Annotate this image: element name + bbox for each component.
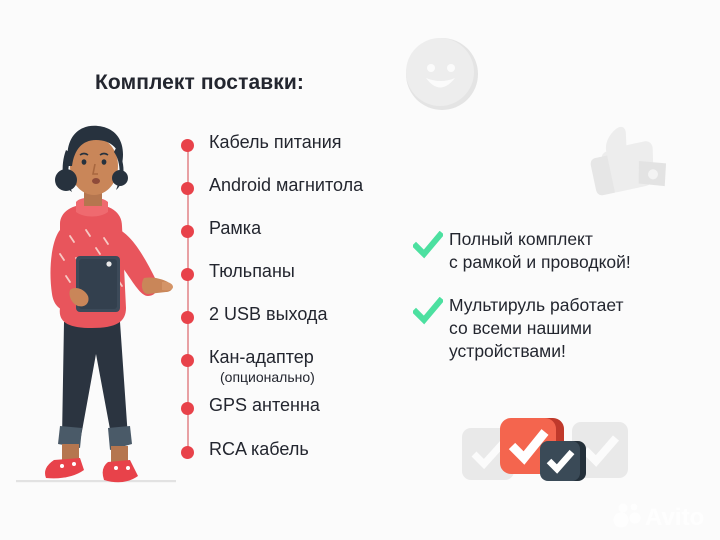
promo-banner: Комплект поставки: Кабель питания Androi… (0, 0, 720, 540)
list-item-sublabel: (опционально) (220, 369, 315, 385)
bullet-dot (181, 225, 194, 238)
list-item-label: Кан-адаптер (209, 347, 314, 368)
bullet-dot (181, 182, 194, 195)
bullet-dot (181, 354, 194, 367)
benefit-text: Мультируль работает со всеми нашими устр… (449, 294, 624, 363)
bullet-dot (181, 402, 194, 415)
checkbox-group-icon (462, 416, 622, 486)
list-item-label: Рамка (209, 218, 261, 239)
benefit-line: устройствами! (449, 340, 624, 363)
benefit-text: Полный комплект с рамкой и проводкой! (449, 228, 631, 274)
check-icon (413, 231, 443, 261)
list-item-label: GPS антенна (209, 395, 320, 416)
benefit-line: со всеми нашими (449, 317, 624, 340)
smiley-face-icon (405, 37, 479, 111)
benefit-line: Мультируль работает (449, 294, 624, 317)
list-item-label: Кабель питания (209, 132, 342, 153)
svg-text:Avito: Avito (645, 504, 704, 530)
woman-with-tablet-illustration (16, 108, 176, 503)
check-icon (413, 297, 443, 327)
list-item-label: Android магнитола (209, 175, 363, 196)
benefit-line: с рамкой и проводкой! (449, 251, 631, 274)
list-item-label: Тюльпаны (209, 261, 295, 282)
list-item-label: 2 USB выхода (209, 304, 327, 325)
bullet-dot (181, 268, 194, 281)
checkbox-dark (540, 441, 580, 481)
avito-watermark: Avito (612, 500, 712, 530)
avito-logo-icon (614, 504, 641, 528)
bullet-dot (181, 446, 194, 459)
thumbs-up-icon (578, 112, 670, 204)
bullet-dot (181, 139, 194, 152)
bullet-dot (181, 311, 194, 324)
page-title: Комплект поставки: (95, 71, 304, 95)
benefit-line: Полный комплект (449, 228, 631, 251)
list-item-label: RCA кабель (209, 439, 309, 460)
